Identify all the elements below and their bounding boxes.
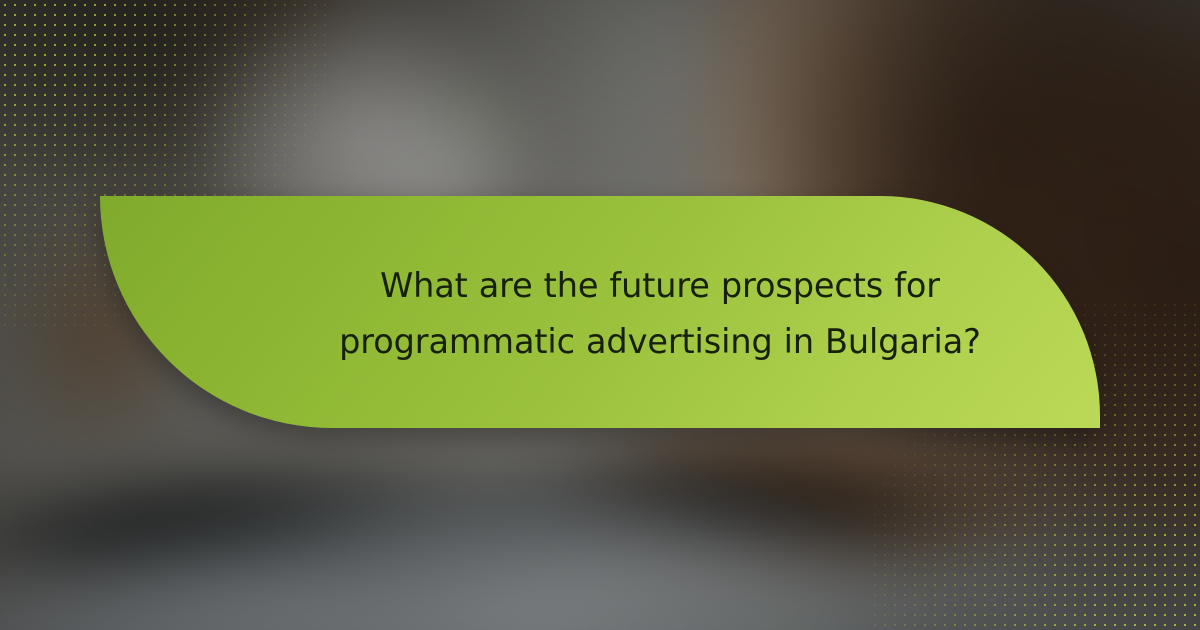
question-card: What are the future prospects for progra…	[100, 196, 1100, 428]
social-card-canvas: What are the future prospects for progra…	[0, 0, 1200, 630]
question-text: What are the future prospects for progra…	[330, 258, 990, 371]
